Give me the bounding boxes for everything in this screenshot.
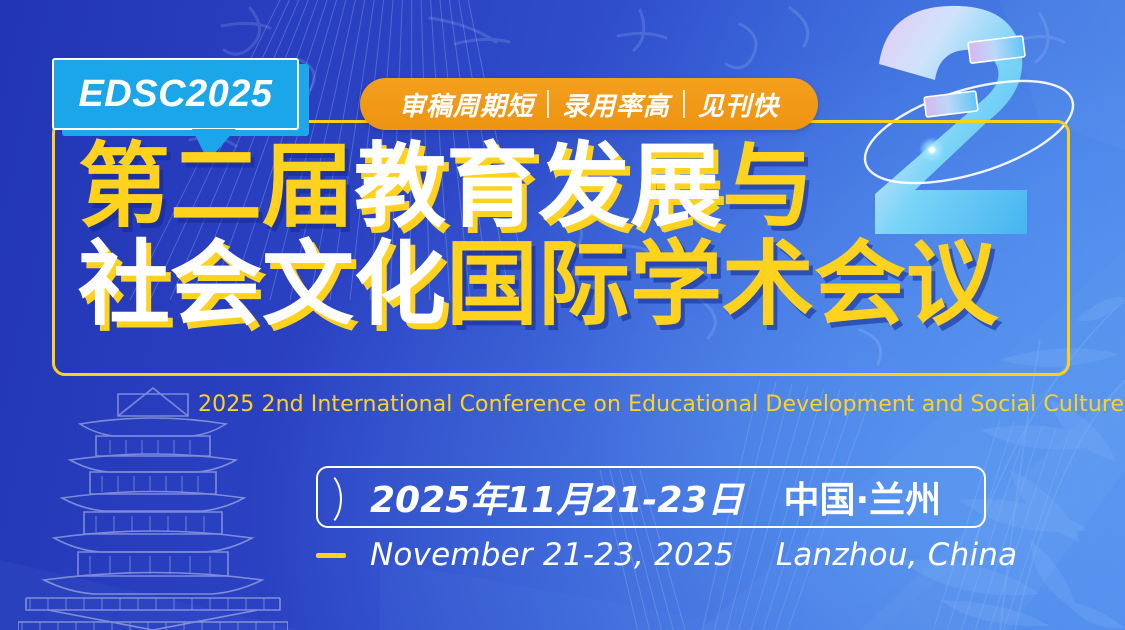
pagoda-illustration — [18, 384, 288, 630]
title-line2-topic: 社会文化 — [78, 231, 446, 338]
conference-date-cn: 2025年11月21-23日 — [370, 471, 743, 523]
title-line1-topic: 教育发展 — [354, 133, 722, 240]
edsc-badge-label: EDSC2025 — [78, 75, 272, 113]
yellow-dash-marker — [316, 553, 346, 558]
edsc-badge-box: EDSC2025 — [52, 58, 299, 130]
title-line1-conjunction: 与 — [722, 133, 814, 240]
conference-city-cn: 中国·兰州 — [783, 471, 941, 523]
conference-banner: EDSC2025 审稿周期短 录用率高 见刊快 第二届教育发展与 社会文化国际学… — [0, 0, 1125, 630]
highlight-item-review-cycle: 审稿周期短 — [386, 86, 547, 123]
conference-date-en: November 21-23, 2025 — [370, 537, 734, 573]
title-line-2: 社会文化国际学术会议 — [78, 236, 998, 334]
edsc-logo-badge[interactable]: EDSC2025 — [52, 58, 299, 130]
date-location-en-row: November 21-23, 2025 Lanzhou, China — [316, 537, 1017, 573]
title-line2-conference: 国际学术会议 — [446, 231, 998, 338]
conference-city-en: Lanzhou, China — [776, 537, 1018, 573]
conference-title-block: 第二届教育发展与 社会文化国际学术会议 — [78, 138, 998, 333]
title-line1-edition: 第二届 — [78, 133, 354, 240]
highlight-item-acceptance-rate: 录用率高 — [549, 86, 683, 123]
highlights-pill: 审稿周期短 录用率高 见刊快 — [360, 78, 818, 130]
english-subtitle: 2025 2nd International Conference on Edu… — [198, 392, 1124, 417]
title-line-1: 第二届教育发展与 — [78, 138, 998, 236]
date-box-left-bracket — [302, 470, 342, 528]
date-location-box: 2025年11月21-23日 中国·兰州 — [316, 466, 986, 528]
highlight-item-fast-publication: 见刊快 — [685, 86, 792, 123]
